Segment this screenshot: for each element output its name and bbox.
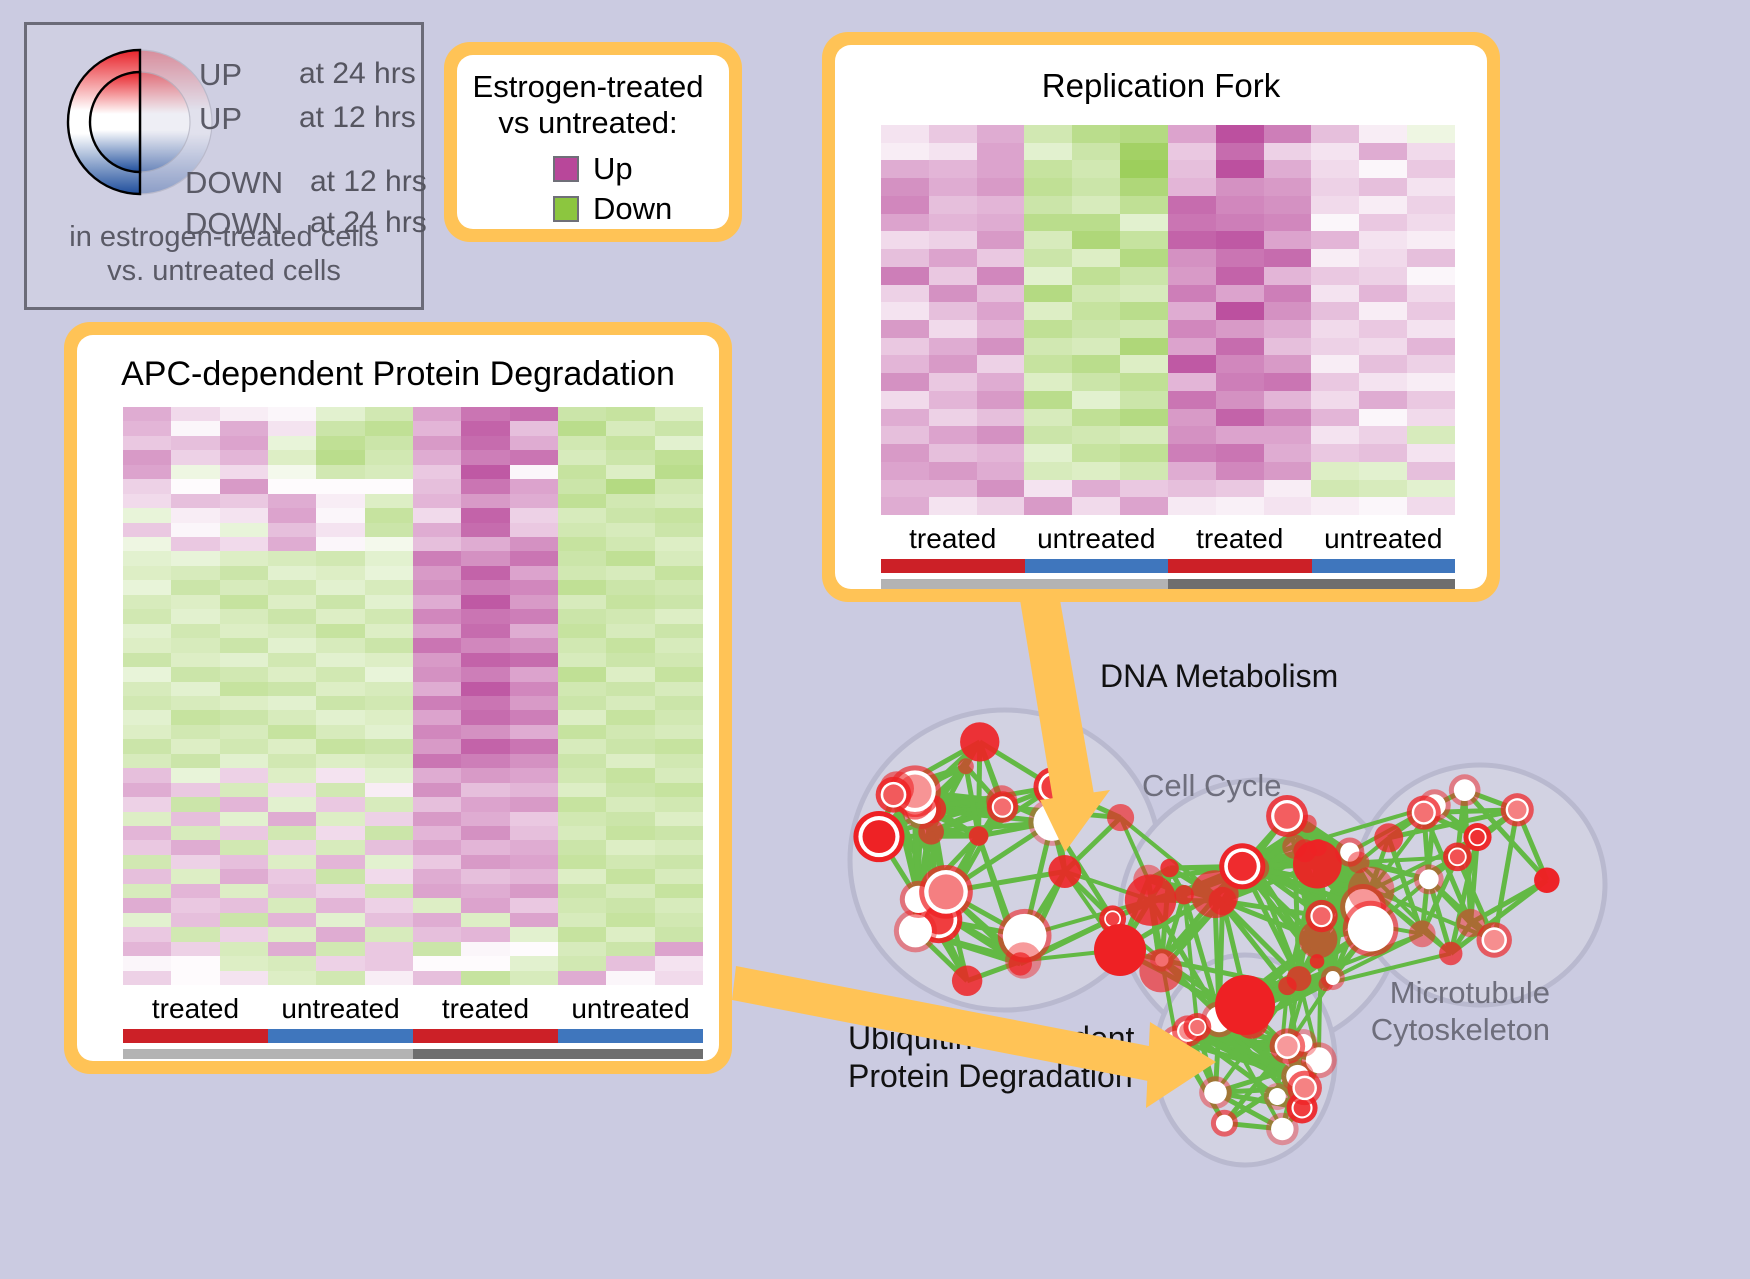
heatmap-cell	[1311, 302, 1359, 320]
heatmap-cell	[558, 927, 606, 941]
cluster-label-microtubule-cytoskeleton: Microtubule Cytoskeleton	[1370, 975, 1550, 1048]
heatmap-cell	[413, 783, 461, 797]
heatmap-cell	[1407, 285, 1455, 303]
heatmap-cell	[606, 479, 654, 493]
heatmap-cell	[881, 214, 929, 232]
heatmap-cell	[413, 869, 461, 883]
heatmap-cell	[123, 551, 171, 565]
network-node-fill	[1450, 849, 1465, 864]
heatmap-cell	[316, 898, 364, 912]
heatmap-cell	[268, 971, 316, 985]
heatmap-cell	[1072, 160, 1120, 178]
heatmap-cell	[220, 508, 268, 522]
network-node	[1534, 867, 1560, 893]
heatmap-cell	[1407, 426, 1455, 444]
heatmap-cell	[1216, 320, 1264, 338]
heatmap-cell	[171, 551, 219, 565]
heatmap-cell	[171, 783, 219, 797]
heatmap-cell	[268, 725, 316, 739]
heatmap-cell	[413, 421, 461, 435]
heatmap-cell	[171, 682, 219, 696]
heatmap-cell	[1407, 214, 1455, 232]
heatmap-cell	[1024, 497, 1072, 515]
heatmap-cell	[1311, 249, 1359, 267]
heatmap-cell	[1407, 249, 1455, 267]
heatmap-cell	[461, 537, 509, 551]
heatmap-cell	[1024, 320, 1072, 338]
heatmap-cell	[510, 566, 558, 580]
heatmap-cell	[316, 537, 364, 551]
heatmap-cell	[606, 508, 654, 522]
heatmap-cell	[171, 855, 219, 869]
heatmap-cell	[413, 537, 461, 551]
heatmap-cell	[268, 421, 316, 435]
heatmap-cell	[461, 436, 509, 450]
heatmap-cell	[1168, 143, 1216, 161]
heatmap-cell	[171, 710, 219, 724]
heatmap-cell	[123, 580, 171, 594]
heatmap-cell	[365, 725, 413, 739]
heatmap-cell	[881, 480, 929, 498]
heatmap-cell	[977, 196, 1025, 214]
heatmap-cell	[1359, 285, 1407, 303]
heatmap-cell	[977, 480, 1025, 498]
network-node-core	[1269, 1088, 1286, 1105]
heatmap-cell	[171, 754, 219, 768]
heatmap-cell	[655, 494, 703, 508]
heatmap-cell	[220, 884, 268, 898]
heatmap-cell	[510, 855, 558, 869]
network-node-fill	[863, 820, 896, 853]
heatmap-cell	[123, 869, 171, 883]
heatmap-cell	[171, 609, 219, 623]
heatmap-cell	[365, 523, 413, 537]
heatmap-cell	[316, 812, 364, 826]
group-color-bar-apc	[123, 1029, 703, 1043]
heatmap-cell	[510, 494, 558, 508]
heatmap-cell	[461, 840, 509, 854]
heatmap-cell	[316, 494, 364, 508]
heatmap-cell	[220, 840, 268, 854]
heatmap-cell	[1072, 355, 1120, 373]
heatmap-cell	[268, 768, 316, 782]
heatmap-cell	[1072, 338, 1120, 356]
heatmap-cell	[461, 768, 509, 782]
heatmap-cell	[1120, 409, 1168, 427]
heatmap-cell	[365, 566, 413, 580]
heatmap-cell	[510, 710, 558, 724]
heatmap-cell	[171, 653, 219, 667]
heatmap-cell	[606, 638, 654, 652]
heatmap-cell	[1407, 391, 1455, 409]
heatmap-cell	[1264, 320, 1312, 338]
heatmap-cell	[268, 898, 316, 912]
heatmap-cell	[977, 231, 1025, 249]
heatmap-cell	[1072, 480, 1120, 498]
heatmap-cell	[1168, 320, 1216, 338]
heatmap-cell	[558, 768, 606, 782]
network-node	[958, 758, 974, 774]
key-caption: in estrogen-treated cells vs. untreated …	[27, 220, 421, 288]
heatmap-cell	[558, 479, 606, 493]
heatmap-cell	[1216, 426, 1264, 444]
heatmap-cell	[655, 768, 703, 782]
heatmap-cell	[268, 783, 316, 797]
heatmap-cell	[655, 869, 703, 883]
heatmap-cell	[606, 566, 654, 580]
heatmap-cell	[413, 523, 461, 537]
heatmap-cell	[510, 407, 558, 421]
network-node-fill	[1228, 852, 1257, 881]
heatmap-cell	[1359, 444, 1407, 462]
heatmap-cell	[1407, 338, 1455, 356]
group-label-untreated-24: untreated	[558, 993, 703, 1025]
heatmap-cell	[365, 479, 413, 493]
heatmap-cell	[1216, 125, 1264, 143]
heatmap-cell	[461, 710, 509, 724]
heatmap-cell	[558, 638, 606, 652]
heatmap-cell	[220, 754, 268, 768]
heatmap-cell	[510, 812, 558, 826]
heatmap-cell	[977, 426, 1025, 444]
heatmap-cell	[1407, 143, 1455, 161]
heatmap-cell	[558, 667, 606, 681]
heatmap-cell	[268, 682, 316, 696]
heatmap-cell	[365, 450, 413, 464]
heatmap-cell	[881, 178, 929, 196]
heatmap-cell	[316, 551, 364, 565]
heatmap-cell	[171, 537, 219, 551]
heatmap-cell	[171, 812, 219, 826]
network-node	[1094, 924, 1146, 976]
heatmap-cell	[365, 855, 413, 869]
heatmap-cell	[123, 407, 171, 421]
heatmap-cell	[171, 407, 219, 421]
key-time-up-24: at 24 hrs	[299, 57, 416, 91]
heatmap-cell	[510, 551, 558, 565]
heatmap-cell	[1168, 426, 1216, 444]
heatmap-cell	[929, 267, 977, 285]
heatmap-cell	[268, 436, 316, 450]
heatmap-cell	[1216, 444, 1264, 462]
heatmap-cell	[123, 812, 171, 826]
heatmap-cell	[268, 826, 316, 840]
heatmap-cell	[268, 913, 316, 927]
heatmap-cell	[1072, 373, 1120, 391]
heatmap-cell	[365, 869, 413, 883]
heatmap-cell	[220, 855, 268, 869]
heatmap-cell	[1168, 497, 1216, 515]
heatmap-cell	[881, 302, 929, 320]
heatmap-cell	[220, 537, 268, 551]
heatmap-cell	[123, 595, 171, 609]
heatmap-cell	[268, 667, 316, 681]
heatmap-cell	[461, 754, 509, 768]
heatmap-cell	[220, 494, 268, 508]
heatmap-cell	[1120, 480, 1168, 498]
heatmap-cell	[1120, 497, 1168, 515]
heatmap-cell	[268, 739, 316, 753]
heatmap-cell	[1168, 125, 1216, 143]
key-time-down-12: at 12 hrs	[310, 165, 427, 199]
cluster-label-ubiquitin-degradation: Ubiquitin-dependent Protein Degradation	[848, 1020, 1134, 1096]
heatmap-cell	[510, 523, 558, 537]
heatmap-cell	[558, 580, 606, 594]
heatmap-cell	[558, 653, 606, 667]
heatmap-cell	[123, 667, 171, 681]
heatmap-cell	[316, 754, 364, 768]
network-node-fill	[1414, 803, 1433, 822]
group-label-untreated-24: untreated	[1312, 523, 1456, 555]
heatmap-cell	[365, 624, 413, 638]
heatmap-cell	[1359, 462, 1407, 480]
heatmap-cell	[1120, 231, 1168, 249]
heatmap-cell	[606, 768, 654, 782]
heatmap-cell	[977, 391, 1025, 409]
heatmap-cell	[461, 855, 509, 869]
heatmap-cell	[1120, 178, 1168, 196]
legend-card: Estrogen-treated vs untreated: Up Down	[444, 42, 742, 242]
heatmap-cell	[1120, 267, 1168, 285]
heatmap-cell	[268, 710, 316, 724]
group-bar-segment-0	[123, 1029, 268, 1043]
panel-title-replication-fork: Replication Fork	[835, 67, 1487, 105]
heatmap-cell	[1216, 497, 1264, 515]
heatmap-cell	[606, 595, 654, 609]
heatmap-cell	[655, 436, 703, 450]
heatmap-cell	[977, 338, 1025, 356]
heatmap-cell	[1024, 355, 1072, 373]
network-node-fill	[929, 874, 964, 909]
heatmap-cell	[220, 624, 268, 638]
heatmap-cell	[1264, 196, 1312, 214]
heatmap-cell	[220, 436, 268, 450]
heatmap-cell	[510, 421, 558, 435]
heatmap-cell	[123, 609, 171, 623]
heatmap-cell	[1216, 355, 1264, 373]
heatmap-cell	[510, 667, 558, 681]
heatmap-cell	[1359, 231, 1407, 249]
heatmap-cell	[268, 595, 316, 609]
heatmap-cell	[881, 355, 929, 373]
heatmap-cell	[558, 566, 606, 580]
heatmap-cell	[929, 285, 977, 303]
heatmap-cell	[171, 421, 219, 435]
heatmap-cell	[558, 682, 606, 696]
heatmap-cell	[1407, 178, 1455, 196]
heatmap-cell	[220, 797, 268, 811]
heatmap-cell	[461, 421, 509, 435]
heatmap-cell	[1024, 267, 1072, 285]
heatmap-cell	[606, 884, 654, 898]
heatmap-cell	[510, 624, 558, 638]
heatmap-cell	[606, 812, 654, 826]
heatmap-cell	[929, 249, 977, 267]
heatmap-cell	[268, 855, 316, 869]
heatmap-cell	[171, 884, 219, 898]
heatmap-cell	[220, 710, 268, 724]
heatmap-cell	[413, 754, 461, 768]
heatmap-cell	[1359, 480, 1407, 498]
heatmap-cell	[461, 826, 509, 840]
heatmap-cell	[1072, 497, 1120, 515]
heatmap-cell	[1359, 497, 1407, 515]
heatmap-cell	[171, 450, 219, 464]
heatmap-cell	[1359, 214, 1407, 232]
heatmap-cell	[268, 942, 316, 956]
heatmap-cell	[171, 566, 219, 580]
heatmap-cell	[123, 840, 171, 854]
heatmap-cell	[1407, 302, 1455, 320]
network-node-fill	[1295, 1078, 1315, 1098]
heatmap-cell	[510, 783, 558, 797]
heatmap-cell	[1072, 426, 1120, 444]
heatmap-cell	[1407, 373, 1455, 391]
heatmap-cell	[316, 956, 364, 970]
network-node-fill	[1041, 775, 1065, 799]
heatmap-cell	[1264, 462, 1312, 480]
heatmap-cell	[558, 595, 606, 609]
heatmap-cell	[461, 450, 509, 464]
heatmap-cell	[413, 609, 461, 623]
heatmap-cell	[365, 465, 413, 479]
heatmap-cell	[413, 551, 461, 565]
heatmap-cell	[123, 913, 171, 927]
heatmap-cell	[558, 710, 606, 724]
network-node	[1409, 920, 1436, 947]
heatmap-cell	[171, 898, 219, 912]
heatmap-cell	[1359, 249, 1407, 267]
heatmap-cell	[558, 551, 606, 565]
heatmap-cell	[510, 609, 558, 623]
heatmap-cell	[316, 609, 364, 623]
heatmap-cell	[220, 956, 268, 970]
heatmap-cell	[171, 869, 219, 883]
heatmap-cell	[171, 667, 219, 681]
heatmap-cell	[977, 497, 1025, 515]
heatmap-cell	[413, 479, 461, 493]
heatmap-cell	[365, 956, 413, 970]
heatmap-cell	[606, 436, 654, 450]
heatmap-cell	[413, 566, 461, 580]
heatmap-cell	[123, 566, 171, 580]
heatmap-cell	[606, 537, 654, 551]
heatmap-cell	[365, 667, 413, 681]
heatmap-cell	[1120, 143, 1168, 161]
heatmap-cell	[1120, 391, 1168, 409]
heatmap-cell	[510, 869, 558, 883]
heatmap-cell	[1264, 267, 1312, 285]
heatmap-cell	[268, 407, 316, 421]
heatmap-cell	[655, 797, 703, 811]
heatmap-cell	[123, 523, 171, 537]
heatmap-cell	[1264, 214, 1312, 232]
heatmap-cell	[1216, 480, 1264, 498]
heatmap-cell	[268, 653, 316, 667]
heatmap-cell	[461, 797, 509, 811]
heatmap-cell	[558, 913, 606, 927]
heatmap-cell	[655, 682, 703, 696]
heatmap-cell	[655, 450, 703, 464]
heatmap-cell	[606, 898, 654, 912]
heatmap-cell	[123, 884, 171, 898]
heatmap-cell	[929, 196, 977, 214]
heatmap-cell	[977, 373, 1025, 391]
legend-title-line1: Estrogen-treated	[457, 69, 719, 105]
heatmap-cell	[606, 450, 654, 464]
heatmap-cell	[1359, 302, 1407, 320]
heatmap-cell	[655, 407, 703, 421]
heatmap-cell	[655, 754, 703, 768]
heatmap-cell	[510, 725, 558, 739]
heatmap-cell	[977, 249, 1025, 267]
heatmap-cell	[461, 508, 509, 522]
heatmap-cell	[1264, 338, 1312, 356]
heatmap-cell	[316, 479, 364, 493]
heatmap-cell	[268, 537, 316, 551]
key-time-up-12: at 12 hrs	[299, 101, 416, 135]
heatmap-cell	[316, 407, 364, 421]
heatmap-cell	[365, 898, 413, 912]
network-node	[1139, 949, 1182, 992]
heatmap-cell	[929, 178, 977, 196]
heatmap-cell	[1311, 178, 1359, 196]
heatmap-cell	[929, 373, 977, 391]
heatmap-cell	[606, 696, 654, 710]
heatmap-cell	[977, 444, 1025, 462]
heatmap-cell	[1168, 391, 1216, 409]
heatmap-cell	[1311, 444, 1359, 462]
heatmap-cell	[461, 783, 509, 797]
heatmap-cell	[655, 421, 703, 435]
network-node-core	[1326, 971, 1340, 985]
heatmap-cell	[977, 285, 1025, 303]
heatmap-cell	[171, 927, 219, 941]
heatmap-cell	[171, 595, 219, 609]
heatmap-cell	[1072, 178, 1120, 196]
heatmap-cell	[510, 971, 558, 985]
heatmap-cell	[558, 855, 606, 869]
heatmap-cell	[655, 942, 703, 956]
heatmap-cell	[413, 971, 461, 985]
heatmap-cell	[268, 523, 316, 537]
heatmap-cell	[881, 267, 929, 285]
heatmap-cell	[220, 465, 268, 479]
heatmap-cell	[977, 462, 1025, 480]
network-node	[1374, 823, 1403, 852]
network-node-core	[1033, 804, 1070, 841]
heatmap-cell	[655, 465, 703, 479]
heatmap-cell	[510, 682, 558, 696]
heatmap-cell	[558, 898, 606, 912]
heatmap-cell	[413, 508, 461, 522]
heatmap-cell	[1216, 302, 1264, 320]
heatmap-cell	[1024, 462, 1072, 480]
heatmap-cell	[1359, 355, 1407, 373]
heatmap-cell	[461, 479, 509, 493]
heatmap-cell	[1264, 125, 1312, 143]
heatmap-cell	[220, 667, 268, 681]
key-word-up-24: UP	[199, 57, 242, 93]
heatmap-cell	[1120, 160, 1168, 178]
heatmap-cell	[123, 956, 171, 970]
heatmap-cell	[413, 407, 461, 421]
heatmap-cell	[1168, 249, 1216, 267]
heatmap-cell	[365, 942, 413, 956]
key-caption-line2: vs. untreated cells	[27, 254, 421, 288]
heatmap-cell	[316, 869, 364, 883]
heatmap-cell	[1264, 143, 1312, 161]
